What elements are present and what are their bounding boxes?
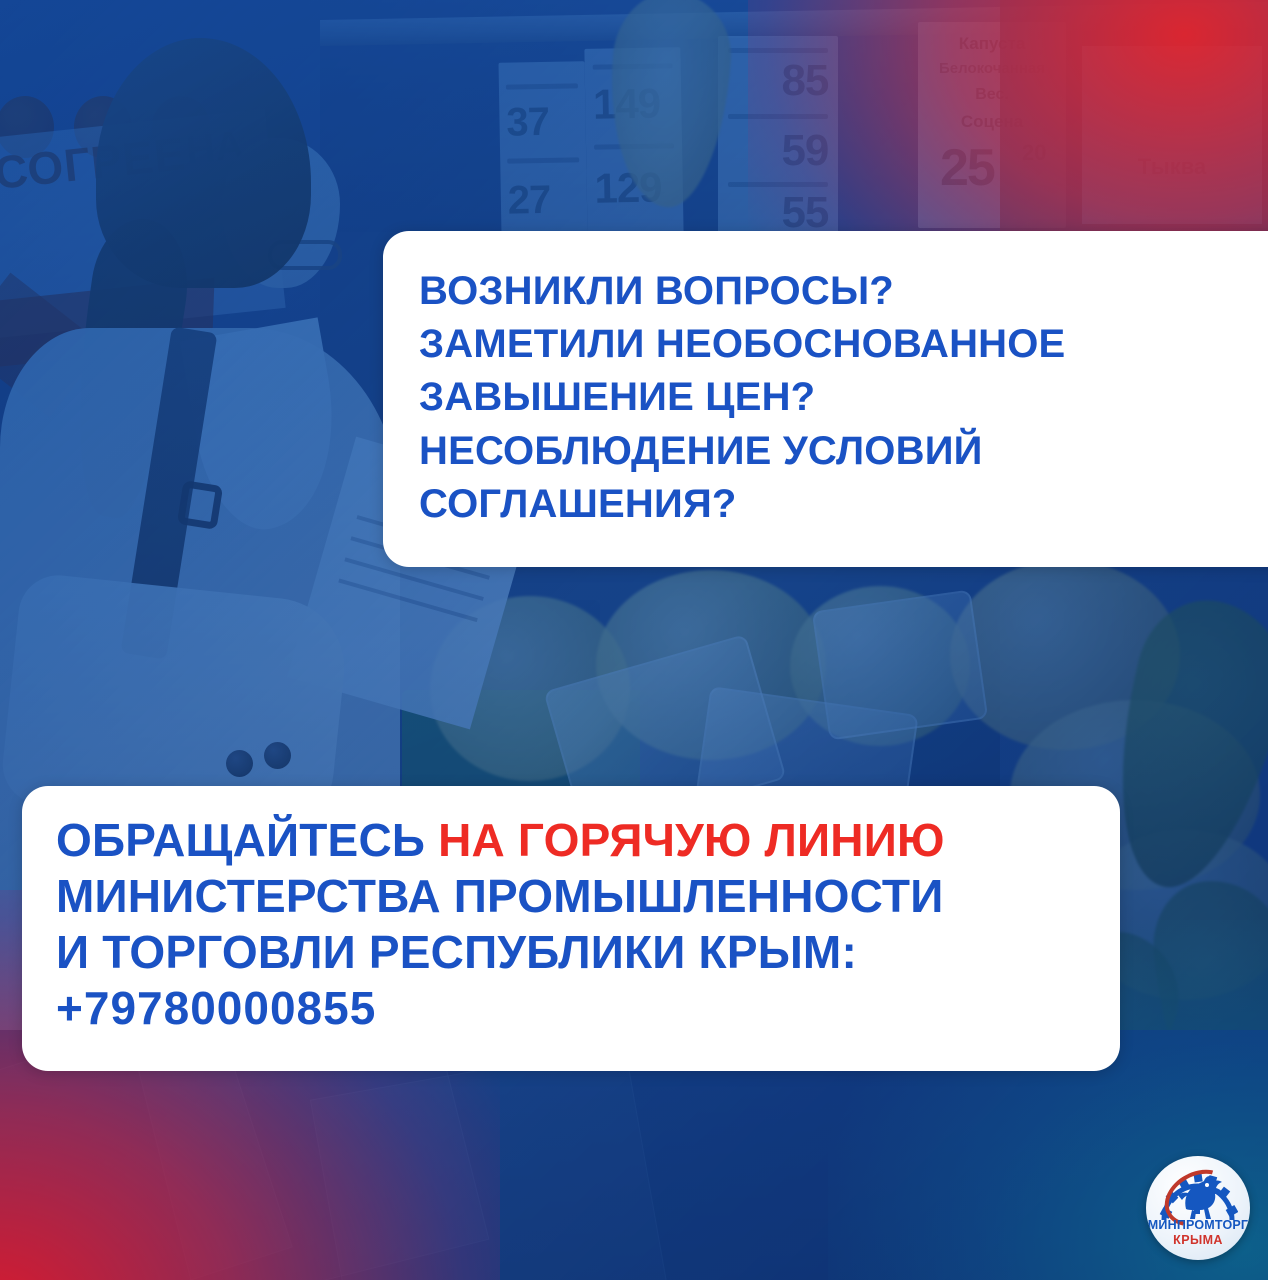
headline-line-1: ВОЗНИКЛИ ВОПРОСЫ? [419,265,1243,318]
questions-headline: ВОЗНИКЛИ ВОПРОСЫ? ЗАМЕТИЛИ НЕОБОСНОВАННО… [419,265,1243,531]
hotline-line-1: ОБРАЩАЙТЕСЬ НА ГОРЯЧУЮ ЛИНИЮ [56,812,1090,868]
hotline-phone-number[interactable]: +79780000855 [56,980,1090,1036]
minpromtorg-crimea-logo[interactable]: МИНПРОМТОРГ КРЫМА [1146,1156,1250,1260]
headline-line-2: ЗАМЕТИЛИ НЕОБОСНОВАННОЕ [419,318,1243,371]
logo-subtitle: КРЫМА [1146,1233,1250,1247]
background-photo: 37 27 149 129 85 59 55 Капуста [0,0,1268,1280]
griffin-icon [1174,1169,1226,1221]
hotline-highlight: НА ГОРЯЧУЮ ЛИНИЮ [438,814,944,866]
poster-root: 37 27 149 129 85 59 55 Капуста [0,0,1268,1280]
hotline-text: ОБРАЩАЙТЕСЬ НА ГОРЯЧУЮ ЛИНИЮ МИНИСТЕРСТВ… [56,812,1090,1036]
logo-title: МИНПРОМТОРГ [1146,1218,1250,1232]
hotline-line-3: И ТОРГОВЛИ РЕСПУБЛИКИ КРЫМ: [56,924,1090,980]
hotline-line-2: МИНИСТЕРСТВА ПРОМЫШЛЕННОСТИ [56,868,1090,924]
headline-line-5: СОГЛАШЕНИЯ? [419,478,1243,531]
hotline-card: ОБРАЩАЙТЕСЬ НА ГОРЯЧУЮ ЛИНИЮ МИНИСТЕРСТВ… [22,786,1120,1071]
questions-card: ВОЗНИКЛИ ВОПРОСЫ? ЗАМЕТИЛИ НЕОБОСНОВАННО… [383,231,1268,567]
hotline-line-1-prefix: ОБРАЩАЙТЕСЬ [56,814,438,866]
headline-line-3: ЗАВЫШЕНИЕ ЦЕН? [419,371,1243,424]
headline-line-4: НЕСОБЛЮДЕНИЕ УСЛОВИЙ [419,425,1243,478]
